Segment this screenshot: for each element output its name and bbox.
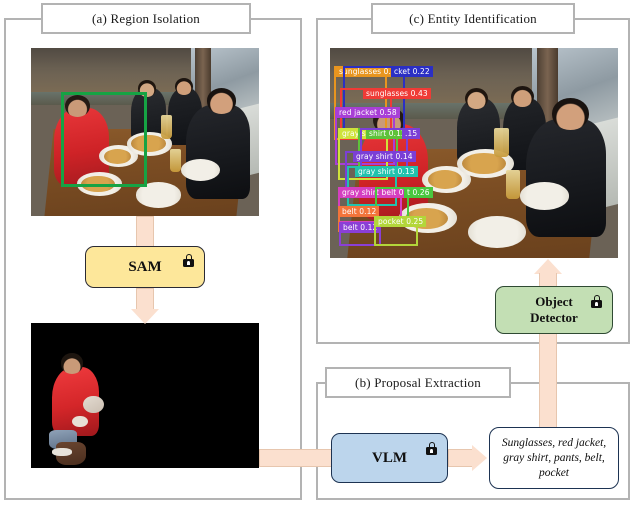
panel-a-title-text: (a) Region Isolation <box>92 11 200 27</box>
panel-b-title-text: (b) Proposal Extraction <box>355 375 481 391</box>
person-dark-head <box>207 88 237 113</box>
detection-label: pocket 0.25 <box>375 216 426 227</box>
arrow-photo-to-sam <box>136 216 154 246</box>
panel-a-title: (a) Region Isolation <box>41 3 251 34</box>
arrow-sam-to-mask <box>136 288 154 309</box>
detection-label: red jacket 0.58 <box>336 107 400 118</box>
sam-node[interactable]: SAM <box>85 246 205 288</box>
proposal-text-box: Sunglasses, red jacket, gray shirt, pant… <box>489 427 619 489</box>
object-detector-label-line2: Detector <box>530 310 578 326</box>
panel-c-title-text: (c) Entity Identification <box>409 11 537 27</box>
region-bounding-box <box>61 92 148 188</box>
lock-icon <box>591 295 602 308</box>
beer-glass <box>161 115 172 139</box>
object-detector-node[interactable]: Object Detector <box>495 286 613 334</box>
detection-label: .15 <box>402 128 420 139</box>
figure-canvas: (a) Region Isolation SAM <box>0 0 634 510</box>
proposal-text: Sunglasses, red jacket, gray shirt, pant… <box>496 436 612 481</box>
detection-label: sunglasses 0.43 <box>363 88 431 99</box>
segmented-shoe <box>52 448 73 457</box>
detection-label: t 0.26 <box>404 187 433 198</box>
arrow-head-up-photo <box>534 259 562 274</box>
segmented-head <box>61 353 84 373</box>
panel-b-title: (b) Proposal Extraction <box>325 367 511 398</box>
sam-label: SAM <box>128 259 161 276</box>
arrow-head-right-text <box>472 445 487 471</box>
panel-c-title: (c) Entity Identification <box>371 3 575 34</box>
source-photo-a <box>31 48 259 216</box>
arrow-head-down-mask <box>131 309 159 324</box>
plate <box>181 159 220 181</box>
lock-icon <box>183 254 194 267</box>
object-detector-label-line1: Object <box>535 294 573 310</box>
detected-photo-c: sunglasses 0.12cket 0.22sunglasses 0.43r… <box>330 48 618 258</box>
segmented-image <box>31 323 259 468</box>
person-middle-2-head <box>175 78 193 95</box>
person-dark-jacket <box>186 105 250 199</box>
vlm-node[interactable]: VLM <box>331 433 448 483</box>
beer-glass <box>170 149 181 173</box>
arrow-vlm-to-text <box>448 449 472 467</box>
photo-canopy <box>31 48 191 92</box>
detection-overlay: sunglasses 0.12cket 0.22sunglasses 0.43r… <box>330 48 618 258</box>
detection-label: cket 0.22 <box>391 66 433 77</box>
detection-label: gray shirt 0.13 <box>355 166 418 177</box>
segmented-arm <box>83 396 104 413</box>
arrow-text-to-detector <box>539 334 557 442</box>
lock-icon <box>426 442 437 455</box>
detection-label: gray shirt 0.14 <box>353 151 416 162</box>
vlm-label: VLM <box>372 450 407 467</box>
